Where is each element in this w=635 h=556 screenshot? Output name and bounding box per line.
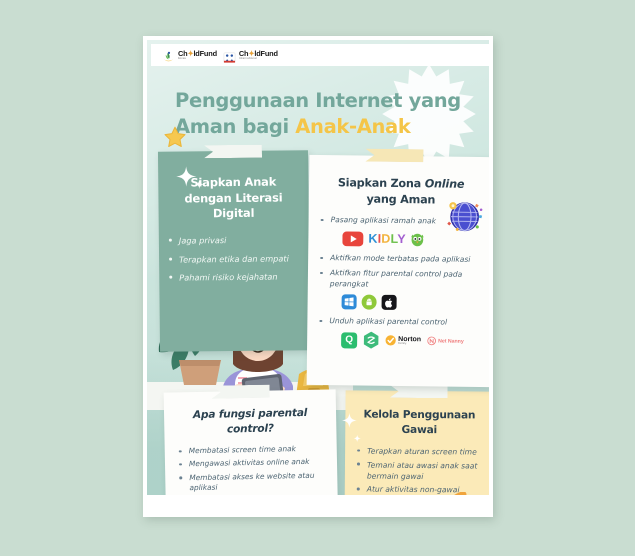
zona-title-line-1: Siapkan Zona Online	[325, 175, 477, 193]
childfund-korea-text: Ch✦ldFund Korea	[178, 50, 217, 61]
sparkle-icon-gawai-small	[353, 434, 361, 442]
childfund-korea-mark	[162, 49, 175, 62]
platform-icons-row	[308, 294, 489, 311]
norton-family-logo[interactable]: Norton Family	[385, 335, 421, 346]
card-literasi-list: Jaga privasi Terapkan etika dan empati P…	[159, 233, 310, 283]
childfund-international-mark	[223, 49, 236, 62]
star-icon-left	[163, 125, 187, 149]
zona-title-em: Online	[425, 177, 465, 190]
sparkle-icon-gawai	[341, 412, 357, 428]
net-nanny-icon	[427, 336, 436, 345]
card-gawai-list: Terapkan aturan screen time Temani atau …	[345, 446, 489, 495]
card-kelola-gawai: Kelola Penggunaan Gawai Terapkan aturan …	[344, 390, 489, 495]
fungsi-title-line-1: Apa fungsi parental	[180, 406, 320, 423]
literasi-title-line-2: dengan Literasi	[172, 190, 294, 207]
net-nanny-logo[interactable]: Net Nanny	[427, 336, 464, 345]
title-line-1: Penggunaan Internet yang	[175, 88, 469, 114]
list-item: Membatasi akses ke website atau aplikasi	[189, 470, 325, 494]
duolingo-bird-icon[interactable]	[411, 231, 425, 247]
list-item: Mengawasi aktivitas online anak	[189, 457, 325, 470]
poster-footer-strip	[147, 495, 489, 513]
childfund-international-text: Ch✦ldFund International	[239, 50, 278, 61]
cf-intl-sub: International	[239, 58, 278, 61]
gawai-title-line-1: Kelola Penggunaan	[357, 407, 481, 423]
poster-stage: Penggunaan Internet yang Aman bagi Anak-…	[0, 0, 635, 556]
list-item: Aktifkan mode terbatas pada aplikasi	[330, 253, 482, 266]
list-item: Terapkan aturan screen time	[367, 446, 483, 458]
norton-check-icon	[385, 335, 396, 346]
cf-korea-text-b: ldFund	[193, 49, 216, 58]
android-icon[interactable]	[362, 295, 377, 310]
title-line-2-highlight: Anak-Anak	[295, 115, 410, 138]
poster-title: Penggunaan Internet yang Aman bagi Anak-…	[175, 88, 469, 139]
card-fungsi-list: Membatasi screen time anak Mengawasi akt…	[165, 444, 338, 495]
childfund-korea-logo: Ch✦ldFund Korea	[162, 49, 217, 62]
list-item: Pahami risiko kejahatan	[179, 270, 301, 284]
card-zona-list-3: Unduh aplikasi parental control	[307, 316, 489, 329]
fungsi-title-line-2: control?	[180, 420, 320, 437]
sparkle-icon-literasi-small	[194, 179, 204, 189]
list-item: Unduh aplikasi parental control	[329, 316, 481, 329]
cf-intl-text-b: ldFund	[254, 49, 277, 58]
zona-title-pre: Siapkan Zona	[338, 176, 425, 190]
title-line-2-plain: Aman bagi	[175, 115, 295, 138]
title-line-2: Aman bagi Anak-Anak	[175, 114, 469, 140]
poster-sheet: Penggunaan Internet yang Aman bagi Anak-…	[143, 36, 493, 517]
kaspersky-safe-kids-icon[interactable]	[363, 332, 379, 349]
poster-canvas: Penggunaan Internet yang Aman bagi Anak-…	[147, 40, 489, 495]
gawai-title-line-2: Gawai	[357, 422, 481, 438]
list-item: Temani atau awasi anak saat bermain gawa…	[367, 459, 483, 482]
literasi-title-line-3: Digital	[173, 206, 295, 223]
childfund-international-logo: Ch✦ldFund International	[223, 49, 278, 62]
list-item: Membatasi screen time anak	[189, 444, 325, 457]
apple-icon[interactable]	[382, 295, 397, 310]
list-item: Aktifkan fitur parental control padapera…	[330, 268, 482, 292]
parental-apps-row: Q Norton Family	[307, 331, 489, 350]
card-zona-list-2: Aktifkan mode terbatas pada aplikasi Akt…	[308, 253, 489, 292]
tape-fungsi	[212, 385, 270, 399]
qustodio-icon[interactable]: Q	[341, 332, 357, 348]
list-item: Terapkan etika dan empati	[179, 252, 301, 266]
logo-bar: Ch✦ldFund Korea	[151, 44, 489, 66]
card-zona-online: Siapkan Zona Online yang Aman Pasang apl…	[307, 155, 489, 387]
windows-icon[interactable]	[342, 294, 357, 309]
kidly-logo[interactable]: KIDLY	[368, 232, 406, 246]
card-apa-fungsi: Apa fungsi parental control? Membatasi s…	[164, 389, 339, 495]
youtube-kids-icon[interactable]	[342, 231, 363, 246]
globe-icon	[444, 197, 484, 237]
list-item: Jaga privasi	[179, 234, 301, 248]
card-literasi-digital: Siapkan Anak dengan Literasi Digital Jag…	[158, 150, 310, 352]
cf-korea-sub: Korea	[178, 58, 217, 61]
